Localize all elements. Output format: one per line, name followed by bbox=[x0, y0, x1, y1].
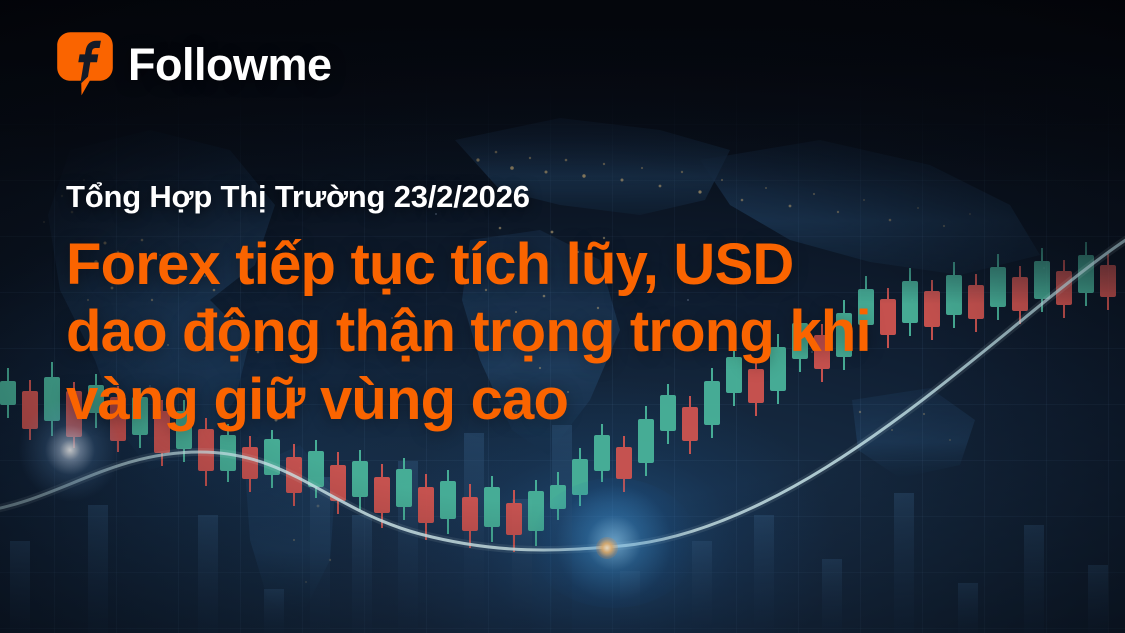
bottom-center-glow bbox=[530, 478, 698, 608]
volume-bars bbox=[10, 425, 1108, 633]
banner-kicker: Tổng Hợp Thị Trường 23/2/2026 bbox=[66, 179, 530, 216]
brand-logo[interactable]: Followme bbox=[56, 31, 332, 97]
headline-line-3: vàng giữ vùng cao bbox=[66, 366, 1066, 433]
headline-line-1: Forex tiếp tục tích lũy, USD bbox=[66, 231, 1066, 298]
brand-name: Followme bbox=[128, 42, 332, 87]
banner-headline: Forex tiếp tục tích lũy, USD dao động th… bbox=[66, 231, 1066, 433]
banner-canvas: Followme Tổng Hợp Thị Trường 23/2/2026 F… bbox=[0, 0, 1125, 633]
followme-f-bubble-icon bbox=[56, 31, 114, 97]
trend-node-glow bbox=[596, 537, 618, 559]
headline-line-2: dao động thận trọng trong khi bbox=[66, 298, 1066, 365]
